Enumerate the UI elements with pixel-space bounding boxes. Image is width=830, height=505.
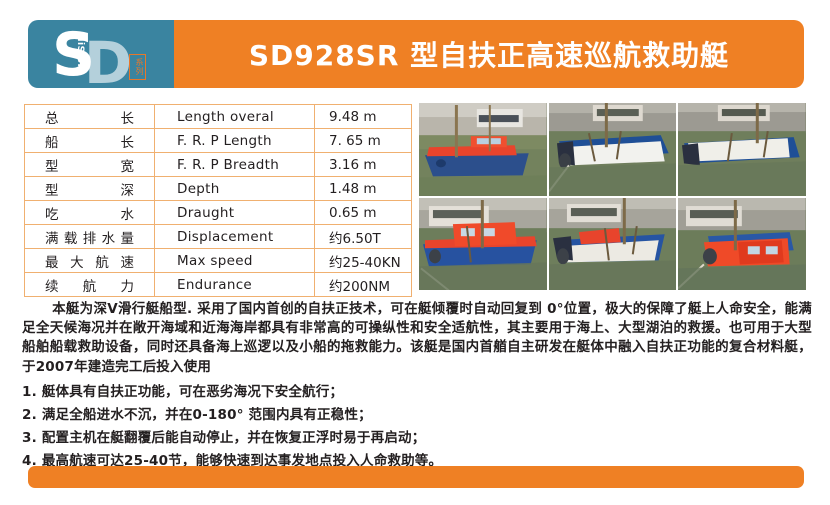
table-row: 吃水 Draught 0.65 m bbox=[25, 201, 412, 225]
table-row: 续航力 Endurance 约200NM bbox=[25, 273, 412, 297]
description-text: 本艇为深V滑行艇船型. 采用了国内首创的自扶正技术，可在艇倾覆时自动回复到 0°… bbox=[22, 301, 812, 375]
boat-photo-upright bbox=[419, 103, 547, 196]
title-banner: SD928SR 型自扶正高速巡航救助艇 bbox=[174, 20, 804, 88]
spec-label-cn: 最大航速 bbox=[25, 249, 155, 273]
table-row: 满载排水量 Displacement 约6.50T bbox=[25, 225, 412, 249]
logo-series-badge: 系列 bbox=[129, 54, 146, 80]
product-description: 本艇为深V滑行艇船型. 采用了国内首创的自扶正技术，可在艇倾覆时自动回复到 0°… bbox=[22, 300, 812, 377]
spec-label-cn: 吃水 bbox=[25, 201, 155, 225]
spec-label-cn: 型宽 bbox=[25, 153, 155, 177]
table-row: 型深 Depth 1.48 m bbox=[25, 177, 412, 201]
spec-value: 1.48 m bbox=[315, 177, 412, 201]
list-item: 3. 配置主机在艇翻覆后能自动停止，并在恢复正浮时易于再启动； bbox=[22, 427, 622, 450]
spec-value: 约25-40KN bbox=[315, 249, 412, 273]
specification-table-body: 总长 Length overal 9.48 m 船长 F. R. P Lengt… bbox=[25, 105, 412, 297]
spec-label-en: F. R. P Breadth bbox=[155, 153, 315, 177]
footer-bar bbox=[28, 466, 804, 488]
spec-label-en: Depth bbox=[155, 177, 315, 201]
page-header: D S HiSiBi 系列 SD928SR 型自扶正高速巡航救助艇 bbox=[28, 20, 804, 88]
boat-photo-capsized-side bbox=[549, 103, 677, 196]
boat-photo-righting-three bbox=[678, 198, 806, 291]
spec-label-en: Endurance bbox=[155, 273, 315, 297]
logo-brand-text: HiSiBi bbox=[75, 34, 84, 67]
boat-photo-righting-one bbox=[419, 198, 547, 291]
spec-label-cn: 船长 bbox=[25, 129, 155, 153]
specification-table: 总长 Length overal 9.48 m 船长 F. R. P Lengt… bbox=[24, 104, 412, 297]
table-row: 总长 Length overal 9.48 m bbox=[25, 105, 412, 129]
spec-value: 3.16 m bbox=[315, 153, 412, 177]
table-row: 船长 F. R. P Length 7. 65 m bbox=[25, 129, 412, 153]
spec-value: 7. 65 m bbox=[315, 129, 412, 153]
list-item: 1. 艇体具有自扶正功能，可在恶劣海况下安全航行； bbox=[22, 381, 622, 404]
spec-value: 约6.50T bbox=[315, 225, 412, 249]
boat-photo-righting-two bbox=[549, 198, 677, 291]
spec-label-en: F. R. P Length bbox=[155, 129, 315, 153]
spec-label-en: Displacement bbox=[155, 225, 315, 249]
spec-label-en: Length overal bbox=[155, 105, 315, 129]
feature-list: 1. 艇体具有自扶正功能，可在恶劣海况下安全航行； 2. 满足全船进水不沉，并在… bbox=[22, 381, 622, 473]
spec-value: 约200NM bbox=[315, 273, 412, 297]
logo-letter-s: S bbox=[52, 24, 93, 86]
spec-label-cn: 满载排水量 bbox=[25, 225, 155, 249]
photo-gallery bbox=[419, 103, 806, 290]
spec-label-cn: 型深 bbox=[25, 177, 155, 201]
spec-label-cn: 续航力 bbox=[25, 273, 155, 297]
spec-value: 9.48 m bbox=[315, 105, 412, 129]
brand-logo: D S HiSiBi 系列 bbox=[28, 20, 174, 88]
spec-label-en: Max speed bbox=[155, 249, 315, 273]
page-title: SD928SR 型自扶正高速巡航救助艇 bbox=[249, 34, 729, 74]
spec-value: 0.65 m bbox=[315, 201, 412, 225]
spec-label-cn: 总长 bbox=[25, 105, 155, 129]
boat-photo-inverted bbox=[678, 103, 806, 196]
spec-label-en: Draught bbox=[155, 201, 315, 225]
list-item: 2. 满足全船进水不沉，并在0-180° 范围内具有正稳性； bbox=[22, 404, 622, 427]
table-row: 最大航速 Max speed 约25-40KN bbox=[25, 249, 412, 273]
table-row: 型宽 F. R. P Breadth 3.16 m bbox=[25, 153, 412, 177]
